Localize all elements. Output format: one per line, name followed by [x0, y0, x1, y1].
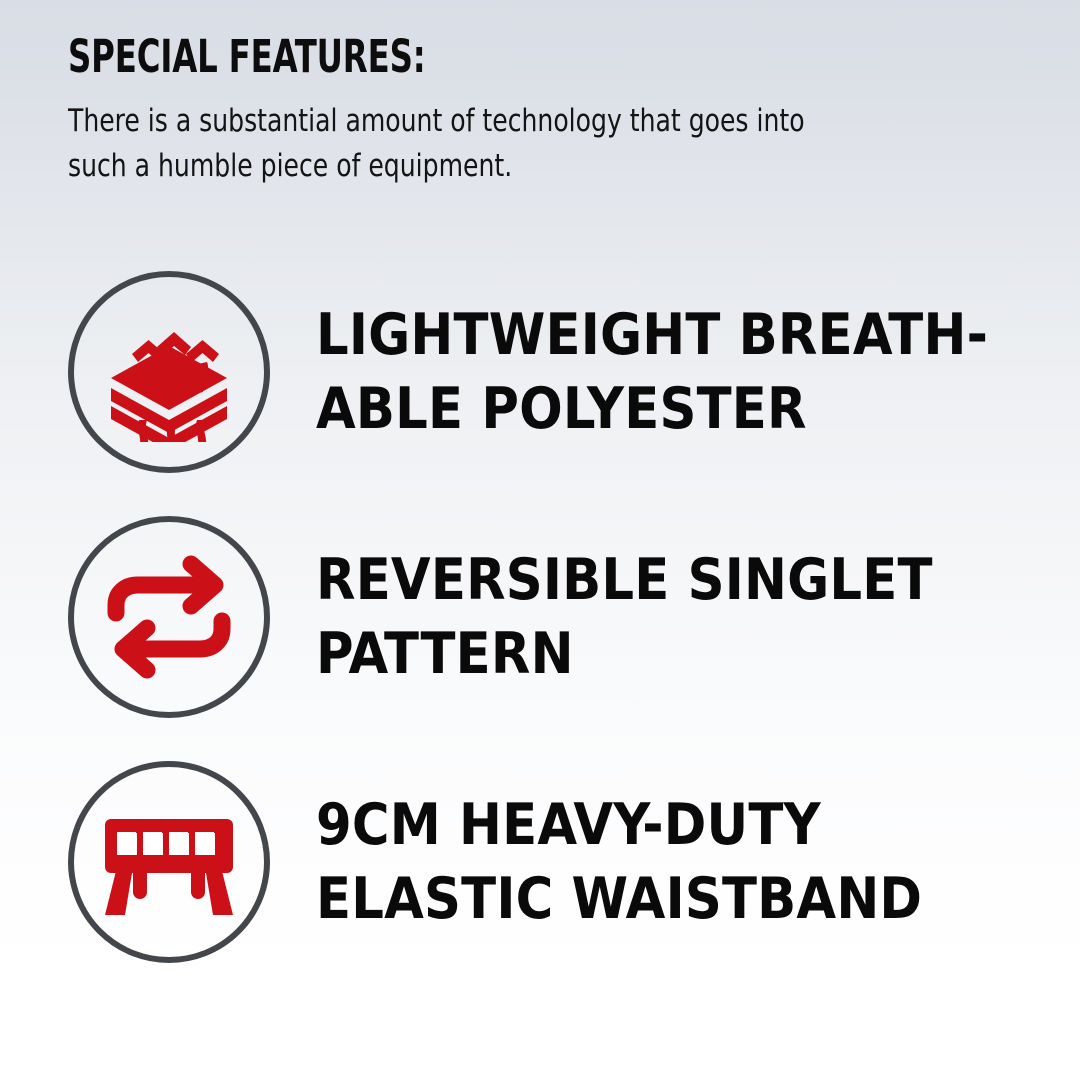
feature-label-line-2: ABLE POLYESTER: [316, 372, 1056, 446]
breathable-fabric-layers-icon: [99, 302, 239, 442]
feature-label-line-1: REVERSIBLE SINGLET: [316, 543, 1056, 617]
feature-item-lightweight-breathable-polyester: LIGHTWEIGHT BREATH- ABLE POLYESTER: [0, 267, 1080, 477]
feature-label-line-1: LIGHTWEIGHT BREATH-: [316, 298, 1056, 372]
icon-circle-breathable: [68, 271, 270, 473]
header-block: SPECIAL FEATURES: There is a substantial…: [68, 34, 1018, 189]
icon-circle-reversible: [68, 516, 270, 718]
icon-circle-waistband: [68, 761, 270, 963]
page-title: SPECIAL FEATURES:: [68, 34, 828, 79]
feature-label-reversible: REVERSIBLE SINGLET PATTERN: [316, 543, 1056, 691]
reversible-swap-arrows-icon: [103, 551, 235, 683]
feature-label-waistband: 9CM HEAVY-DUTY ELASTIC WAISTBAND: [316, 788, 1056, 936]
feature-item-elastic-waistband: 9CM HEAVY-DUTY ELASTIC WAISTBAND: [0, 757, 1080, 967]
feature-label-line-2: PATTERN: [316, 617, 1056, 691]
feature-label-breathable: LIGHTWEIGHT BREATH- ABLE POLYESTER: [316, 298, 1056, 446]
feature-label-line-2: ELASTIC WAISTBAND: [316, 862, 1056, 936]
feature-label-line-1: 9CM HEAVY-DUTY: [316, 788, 1056, 862]
elastic-waistband-icon: [95, 807, 243, 917]
subtitle-line-1: There is a substantial amount of technol…: [68, 99, 1013, 144]
subtitle-line-2: such a humble piece of equipment.: [68, 144, 1013, 189]
feature-item-reversible-singlet-pattern: REVERSIBLE SINGLET PATTERN: [0, 512, 1080, 722]
special-features-panel: SPECIAL FEATURES: There is a substantial…: [0, 0, 1080, 1080]
subtitle: There is a substantial amount of technol…: [68, 99, 1013, 189]
